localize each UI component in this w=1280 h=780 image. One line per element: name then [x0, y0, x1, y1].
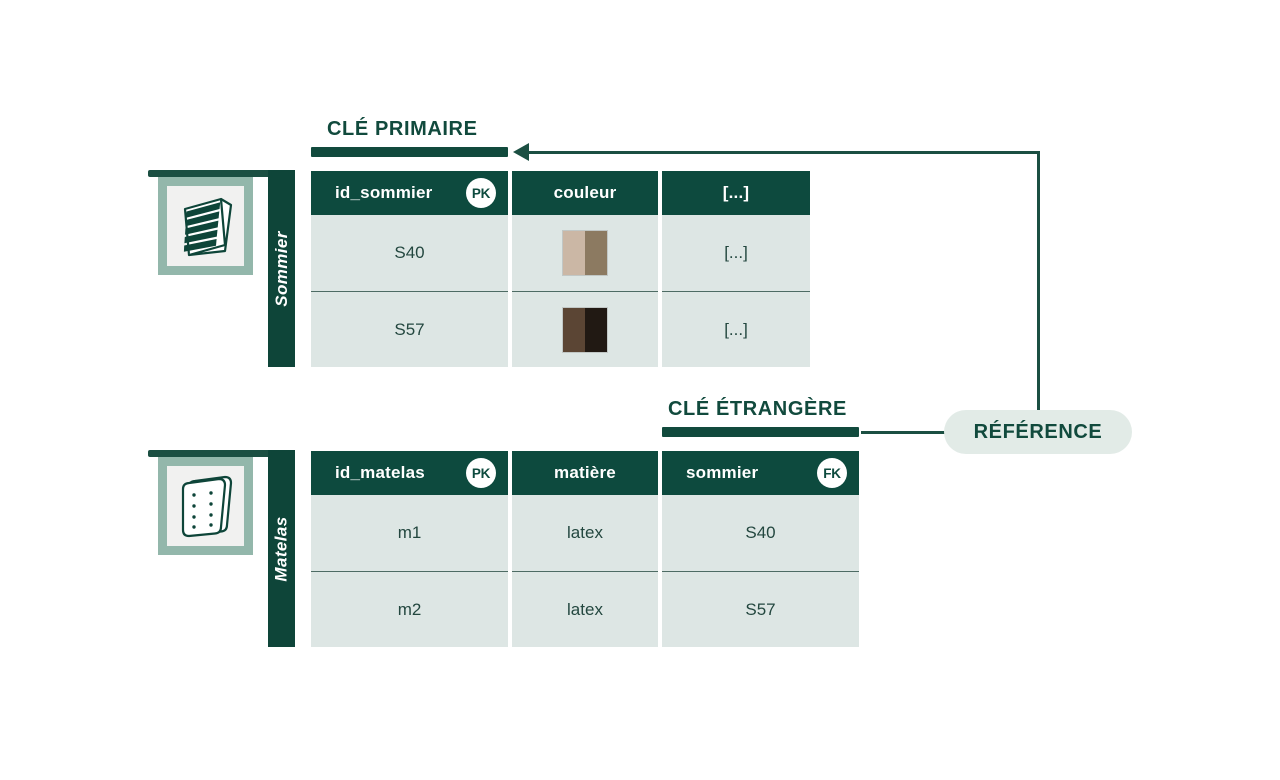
reference-connector-vertical	[1037, 151, 1040, 413]
table-row: m2	[311, 571, 508, 647]
table-row: S57	[311, 291, 508, 367]
entity-sommier-name-bar: Sommier	[268, 170, 295, 367]
color-swatch-left	[563, 231, 585, 275]
entity-matelas-name-bar: Matelas	[268, 450, 295, 647]
primary-key-label: CLÉ PRIMAIRE	[327, 118, 478, 141]
fk-badge-icon: FK	[817, 458, 847, 488]
color-swatch-right	[585, 231, 607, 275]
column-extra-sommier: [...] [...] [...]	[662, 171, 810, 367]
column-header-matiere: matière	[512, 451, 658, 495]
color-swatch-right	[585, 308, 607, 352]
table-row: S40	[311, 215, 508, 291]
column-header-label: couleur	[554, 183, 617, 203]
reference-connector-top-horizontal	[528, 151, 1040, 154]
entity-matelas-name: Matelas	[272, 516, 292, 581]
reference-connector-left-horizontal	[861, 431, 946, 434]
column-header-label: id_matelas	[335, 463, 425, 483]
reference-arrow-head-icon	[513, 143, 529, 161]
table-row	[512, 215, 658, 291]
column-id-matelas: id_matelas PK m1 m2	[311, 451, 508, 647]
table-row: S40	[662, 495, 859, 571]
table-row: [...]	[662, 291, 810, 367]
table-row: latex	[512, 495, 658, 571]
column-couleur: couleur	[512, 171, 658, 367]
diagram-canvas: CLÉ PRIMAIRE RÉFÉRENCE	[0, 0, 1280, 780]
column-header-id-sommier: id_sommier PK	[311, 171, 508, 215]
mattress-icon	[175, 473, 237, 539]
foreign-key-underline	[662, 427, 859, 437]
foreign-key-label: CLÉ ÉTRANGÈRE	[668, 398, 847, 421]
entity-sommier-name: Sommier	[272, 231, 292, 307]
table-row: [...]	[662, 215, 810, 291]
entity-sommier-icon-frame	[158, 177, 253, 275]
column-sommier-fk: sommier FK S40 S57	[662, 451, 859, 647]
column-header-extra: [...]	[662, 171, 810, 215]
column-header-sommier: sommier FK	[662, 451, 859, 495]
column-id-sommier: id_sommier PK S40 S57	[311, 171, 508, 367]
entity-matelas-icon-frame	[158, 457, 253, 555]
column-matiere: matière latex latex	[512, 451, 658, 647]
color-swatch-left	[563, 308, 585, 352]
column-header-label: id_sommier	[335, 183, 432, 203]
primary-key-underline	[311, 147, 508, 157]
column-header-label: sommier	[686, 463, 758, 483]
column-header-label: matière	[554, 463, 616, 483]
bed-slats-icon	[175, 193, 237, 259]
pk-badge-icon: PK	[466, 178, 496, 208]
pk-badge-icon: PK	[466, 458, 496, 488]
color-swatch	[563, 231, 607, 275]
column-header-id-matelas: id_matelas PK	[311, 451, 508, 495]
column-header-label: [...]	[723, 183, 750, 203]
color-swatch	[563, 308, 607, 352]
table-row: m1	[311, 495, 508, 571]
column-header-couleur: couleur	[512, 171, 658, 215]
table-row: latex	[512, 571, 658, 647]
table-row: S57	[662, 571, 859, 647]
table-row	[512, 291, 658, 367]
reference-badge: RÉFÉRENCE	[944, 410, 1132, 454]
